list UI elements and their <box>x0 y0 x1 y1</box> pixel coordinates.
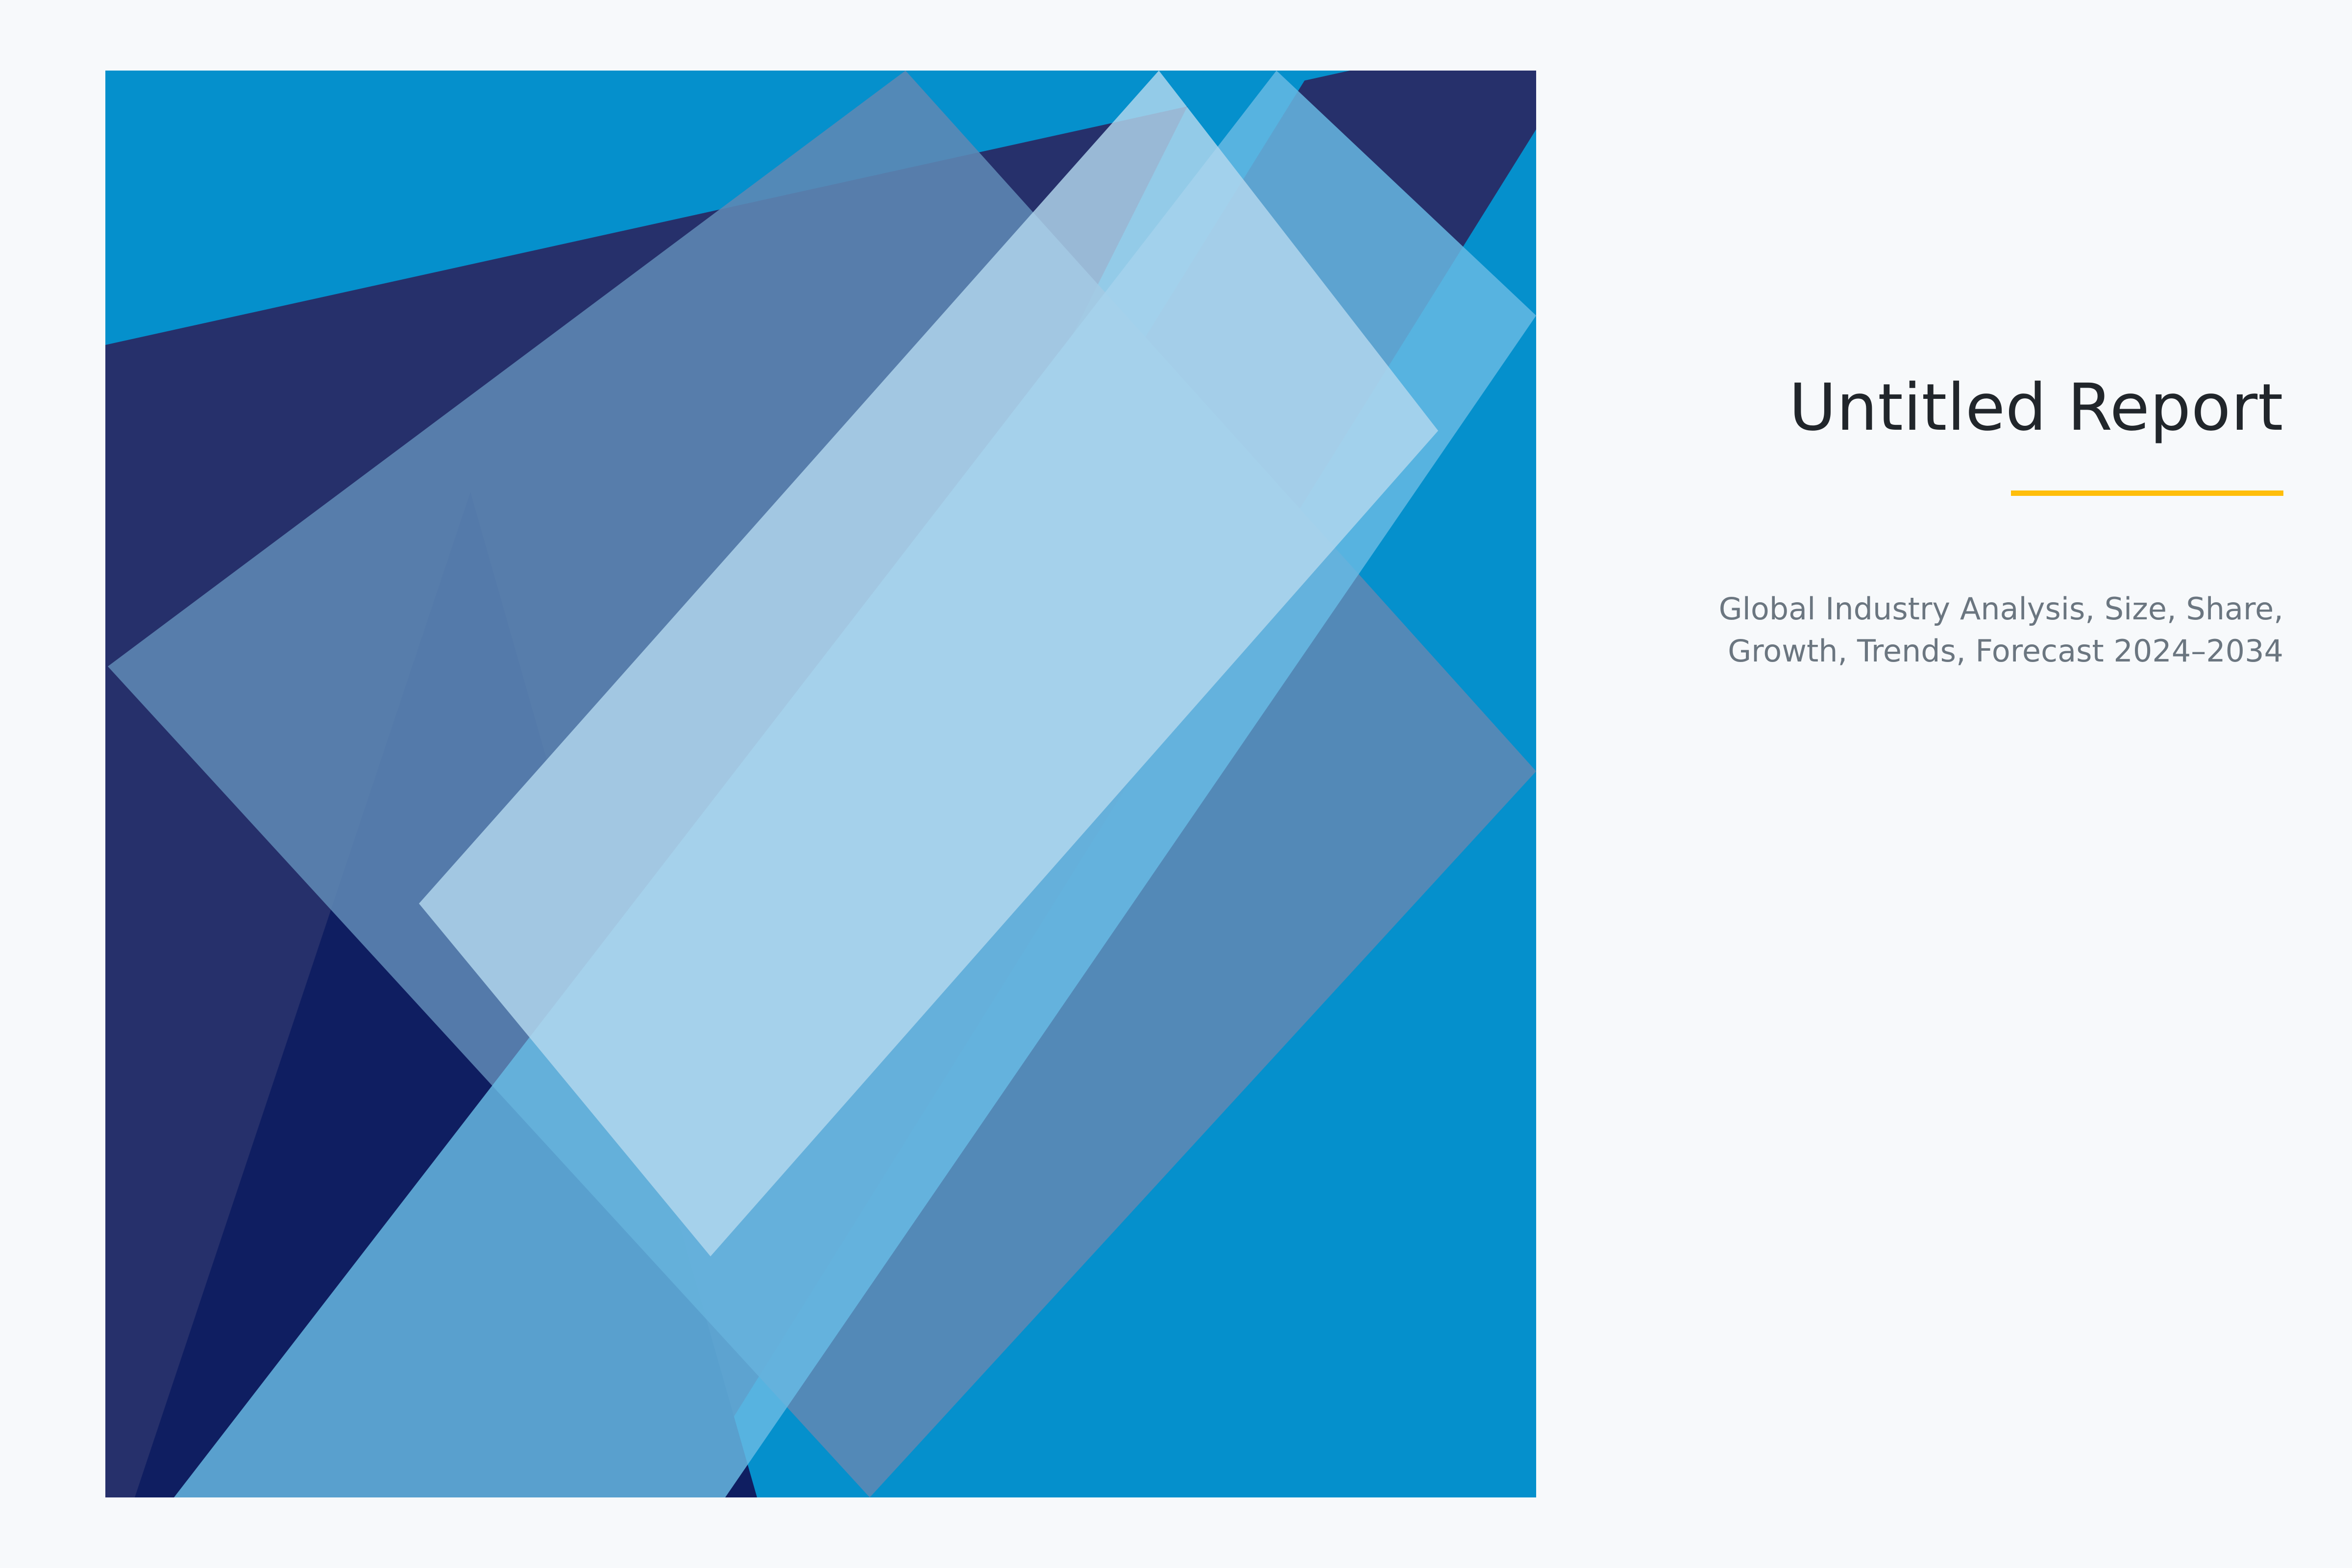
page-subtitle: Global Industry Analysis, Size, Share, G… <box>1646 588 2283 672</box>
title-accent-rule <box>2011 490 2283 496</box>
title-block: Untitled Report Global Industry Analysis… <box>1558 372 2283 702</box>
report-cover-page: Untitled Report Global Industry Analysis… <box>0 0 2352 1568</box>
title-rule-wrap <box>1558 490 2283 496</box>
cover-artwork <box>105 71 1536 1497</box>
page-title: Untitled Report <box>1558 372 2283 443</box>
abstract-geometric-graphic <box>105 71 1536 1497</box>
